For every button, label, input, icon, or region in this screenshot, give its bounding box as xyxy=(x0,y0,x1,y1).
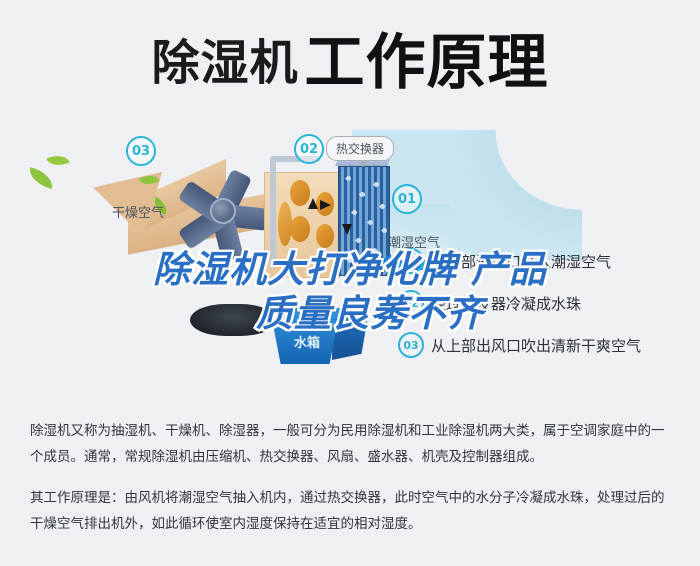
compressor-coil xyxy=(290,180,310,206)
step-item: 01 从下部进风口吸入潮湿空气 xyxy=(398,248,698,274)
water-tank-label: 水箱 xyxy=(294,332,320,351)
water-tank: 水箱 xyxy=(268,308,372,366)
refrigerant-pipe xyxy=(270,158,276,268)
paragraph-1: 除湿机又称为抽湿机、干燥机、除湿器，一般可分为民用除湿机和工业除湿机两大类，属于… xyxy=(30,418,674,471)
leaf-icon xyxy=(46,150,70,170)
compressor-coil xyxy=(316,224,334,248)
flow-arrow-right-icon xyxy=(320,200,331,210)
step-text: 从上部出风口吹出清新干爽空气 xyxy=(431,335,641,356)
flow-arrow-down-icon xyxy=(342,224,352,235)
machine-base xyxy=(190,304,276,336)
badge-humid-air: 01 xyxy=(392,184,422,214)
badge-dry-air: 03 xyxy=(126,136,156,166)
article-body: 除湿机又称为抽湿机、干燥机、除湿器，一般可分为民用除湿机和工业除湿机两大类，属于… xyxy=(30,418,674,551)
step-number: 03 xyxy=(398,332,424,358)
flow-arrow-up-icon xyxy=(308,198,318,209)
leaf-icon xyxy=(26,167,55,189)
dehumidifier-diagram: 水箱 03 干燥空气 02 热交换器 01 潮湿空气 01 从下部进风口吸入潮湿… xyxy=(0,108,700,408)
step-list: 01 从下部进风口吸入潮湿空气 02 经过蒸发器冷凝成水珠 03 从上部出风口吹… xyxy=(398,248,698,374)
compressor-coil xyxy=(290,216,310,242)
step-text: 经过蒸发器冷凝成水珠 xyxy=(431,293,581,314)
title-part-2: 工作原理 xyxy=(305,33,549,93)
step-number: 01 xyxy=(398,248,424,274)
dehumidifier-internals xyxy=(264,162,412,286)
compressor-coil xyxy=(278,202,292,246)
infographic-page: 除湿机 工作原理 xyxy=(0,0,700,566)
step-text: 从下部进风口吸入潮湿空气 xyxy=(431,251,611,272)
paragraph-2: 其工作原理是：由风机将潮湿空气抽入机内，通过热交换器，此时空气中的水分子冷凝成水… xyxy=(30,485,674,538)
label-dry-air: 干燥空气 xyxy=(112,202,164,221)
step-item: 03 从上部出风口吹出清新干爽空气 xyxy=(398,332,698,358)
title-part-1: 除湿机 xyxy=(151,39,298,87)
step-item: 02 经过蒸发器冷凝成水珠 xyxy=(398,290,698,316)
step-number: 02 xyxy=(398,290,424,316)
badge-heat-exchanger: 02 xyxy=(294,134,324,164)
fan-hub xyxy=(210,198,236,224)
label-heat-exchanger: 热交换器 xyxy=(326,136,394,161)
page-title: 除湿机 工作原理 xyxy=(0,24,700,102)
